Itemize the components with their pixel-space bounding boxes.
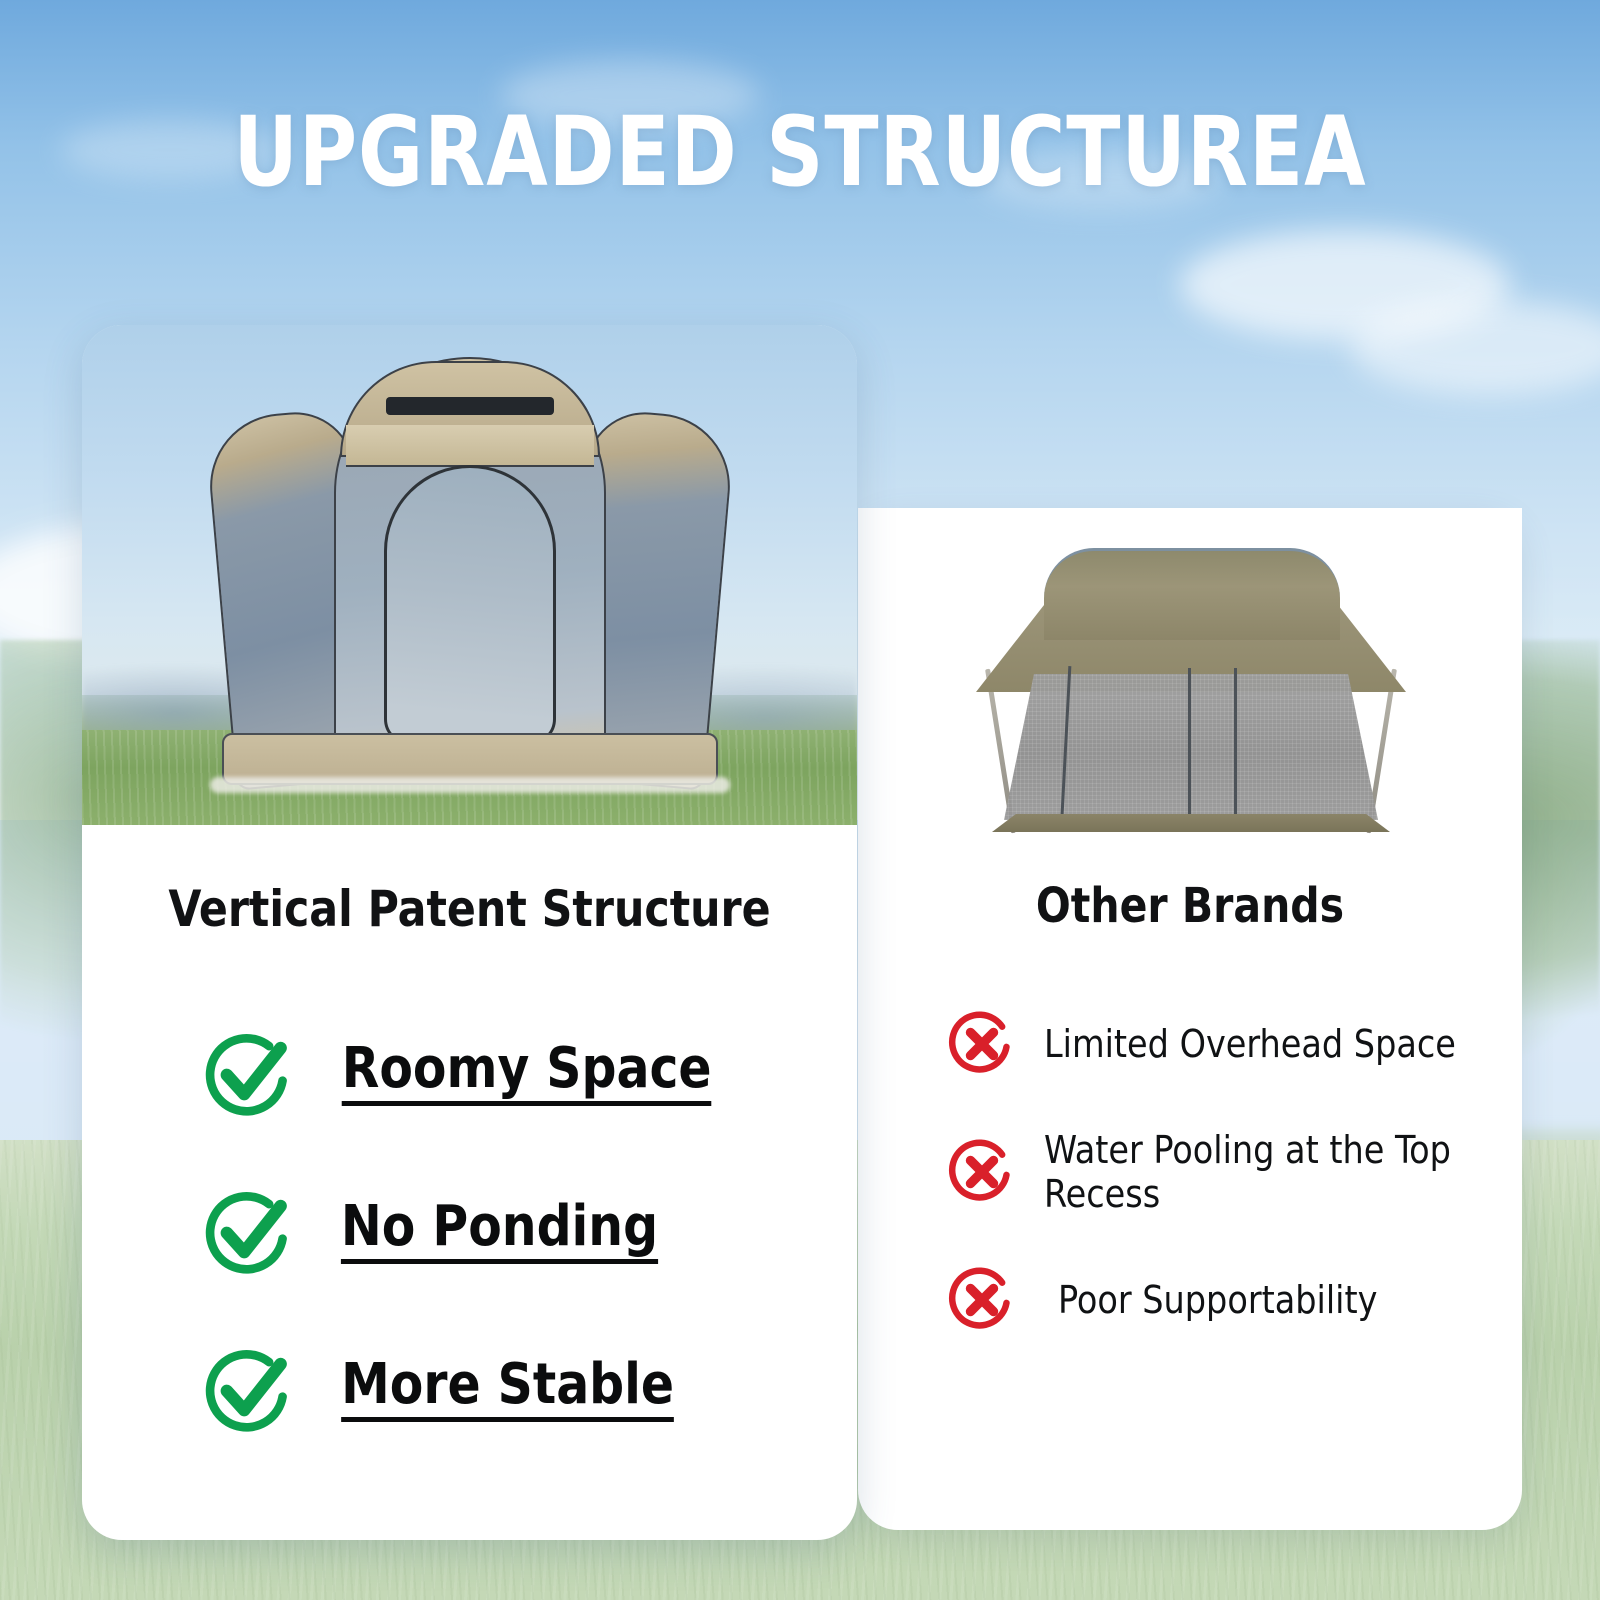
- list-item: No Ponding: [200, 1183, 800, 1279]
- tent-groundsheet: [210, 777, 730, 793]
- tent-mesh-wall: [1004, 674, 1378, 820]
- tent-top-band: [346, 425, 594, 467]
- product-photo: [82, 325, 857, 825]
- other-brands-heading: Other Brands: [875, 878, 1506, 934]
- other-brands-product-photo: [858, 508, 1522, 888]
- popup-dome-tent-illustration: [214, 353, 726, 785]
- list-item: More Stable: [200, 1341, 800, 1437]
- screen-house-tent-illustration: [976, 548, 1406, 848]
- cross-circle-icon: [946, 1008, 1018, 1080]
- drawback-label: Limited Overhead Space: [1044, 1022, 1456, 1066]
- drawback-label: Poor Supportability: [1058, 1278, 1377, 1322]
- drawbacks-list: Limited Overhead Space Water Pooling at …: [946, 1008, 1506, 1336]
- drawback-label: Water Pooling at the Top Recess: [1044, 1128, 1497, 1216]
- cross-circle-icon: [946, 1136, 1018, 1208]
- feature-label: Roomy Space: [342, 1040, 712, 1106]
- check-circle-icon: [200, 1025, 296, 1121]
- feature-label: More Stable: [341, 1356, 674, 1422]
- vertical-patent-structure-card: Vertical Patent Structure Roomy Space: [82, 325, 857, 1540]
- feature-label: No Ponding: [341, 1198, 658, 1264]
- infographic-scene: UPGRADED STRUCTUREA Other Brands: [0, 0, 1600, 1600]
- tent-pole: [1234, 668, 1237, 828]
- list-item: Roomy Space: [200, 1025, 800, 1121]
- list-item: Poor Supportability: [946, 1264, 1506, 1336]
- cross-circle-icon: [946, 1264, 1018, 1336]
- vertical-patent-structure-heading: Vertical Patent Structure: [101, 880, 837, 938]
- tent-vent: [386, 397, 554, 415]
- page-title: UPGRADED STRUCTUREA: [64, 96, 1536, 208]
- list-item: Limited Overhead Space: [946, 1008, 1506, 1080]
- tent-hem: [992, 814, 1390, 832]
- tent-door-opening: [384, 465, 556, 745]
- other-brands-card: Other Brands Limited Overhead Space: [858, 508, 1522, 1530]
- check-circle-icon: [200, 1341, 296, 1437]
- tent-roof: [1044, 548, 1340, 640]
- list-item: Water Pooling at the Top Recess: [946, 1128, 1506, 1216]
- features-list: Roomy Space No Ponding: [200, 1025, 800, 1437]
- tent-pole: [1188, 668, 1191, 828]
- check-circle-icon: [200, 1183, 296, 1279]
